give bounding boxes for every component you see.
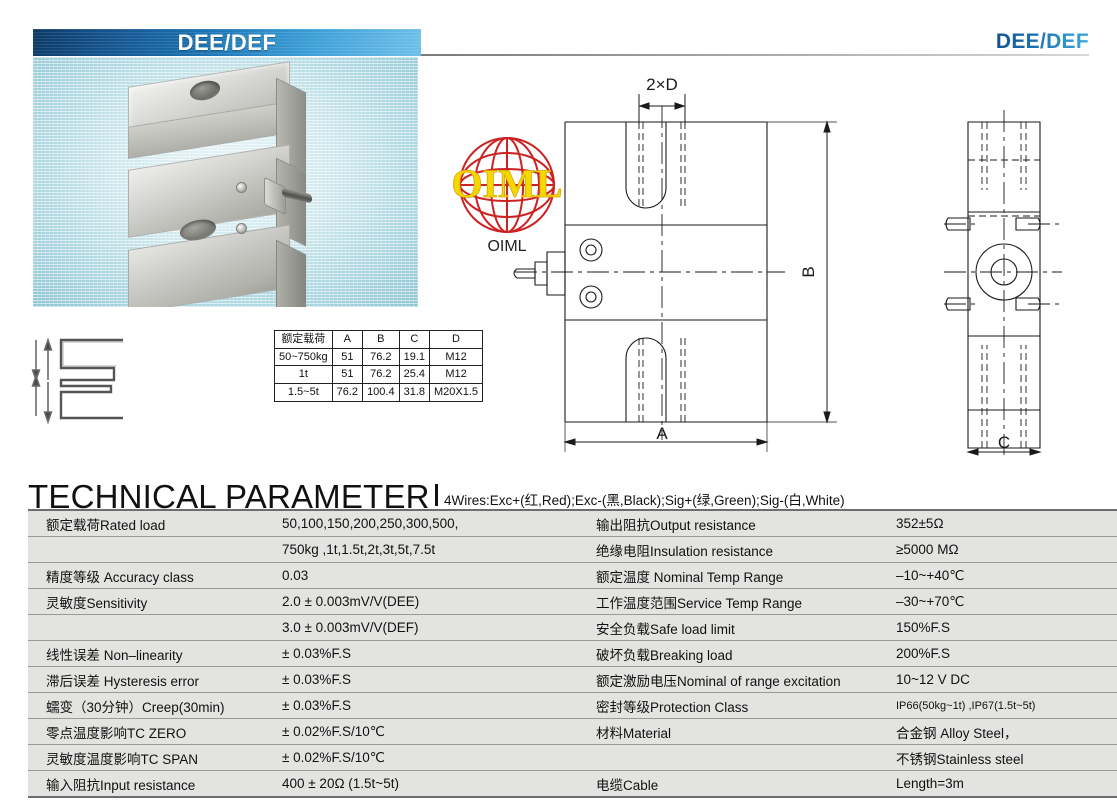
dim-header-c: C [399,331,429,349]
dim-cell: 51 [332,348,362,366]
dim-cell: 19.1 [399,348,429,366]
dimension-table-row: 50~750kg 51 76.2 19.1 M12 [275,348,483,366]
spec-left-value: ± 0.03%F.S [276,693,582,719]
s-shape-icon [28,330,133,425]
spec-right-value: 10~12 V DC [886,667,1117,693]
spec-right-label: 额定温度 Nominal Temp Range [582,563,886,589]
dim-header-rated-load: 额定载荷 [275,331,333,349]
loadcell-bottom-side-face [276,240,306,307]
spec-table-row: 额定载荷Rated load50,100,150,200,250,300,500… [28,510,1117,537]
dim-header-a: A [332,331,362,349]
spec-right-label: 工作温度范围Service Temp Range [582,589,886,615]
spec-right-label: 破坏负载Breaking load [582,641,886,667]
dim-cell: 31.8 [399,383,429,401]
spec-left-value: 400 ± 20Ω (1.5t~5t) [276,771,582,798]
spec-left-label: 精度等级 Accuracy class [28,563,276,589]
front-view-svg: 2×D B A [495,70,885,470]
spec-table-row: 蠕变（30分钟）Creep(30min)± 0.03%F.S密封等级Protec… [28,693,1117,719]
spec-left-label: 输入阻抗Input resistance [28,771,276,798]
dim-cell: 76.2 [332,383,362,401]
spec-left-label: 蠕变（30分钟）Creep(30min) [28,693,276,719]
spec-left-label: 额定载荷Rated load [28,510,276,537]
spec-left-label: 线性误差 Non–linearity [28,641,276,667]
spec-table-row: 3.0 ± 0.003mV/V(DEF)安全负载Safe load limit1… [28,615,1117,641]
header-model-title: DEE/DEF [178,30,277,56]
dim-label-A: A [656,424,668,443]
specification-table: 额定载荷Rated load50,100,150,200,250,300,500… [28,509,1117,798]
spec-right-value: 352±5Ω [886,510,1117,537]
spec-right-label: 电缆Cable [582,771,886,798]
header-banner: DEE/DEF [33,29,421,56]
dim-label-B: B [799,266,818,277]
dim-cell: M12 [430,348,483,366]
spec-right-label: 密封等级Protection Class [582,693,886,719]
spec-left-label: 灵敏度温度影响TC SPAN [28,745,276,771]
dim-cell: 100.4 [363,383,400,401]
front-view-drawing: 2×D B A [495,70,885,475]
dim-header-b: B [363,331,400,349]
dimension-table: 额定载荷 A B C D 50~750kg 51 76.2 19.1 M12 1… [274,330,483,402]
dimension-table-row: 1.5~5t 76.2 100.4 31.8 M20X1.5 [275,383,483,401]
heading-divider [435,484,438,506]
loading-direction-diagram [28,330,133,425]
spec-right-value: 150%F.S [886,615,1117,641]
wiring-note: 4Wires:Exc+(红,Red);Exc-(黑,Black);Sig+(绿,… [444,489,845,509]
side-view-svg: C [940,100,1105,470]
loadcell-bottom-block [128,224,290,307]
dim-label-C: C [998,433,1010,452]
spec-left-value: ± 0.02%F.S/10℃ [276,719,582,745]
spec-right-value: Length=3m [886,771,1117,798]
dim-cell: M20X1.5 [430,383,483,401]
product-photo [33,57,418,307]
loadcell-screw-lower [236,223,247,234]
dim-cell: 76.2 [363,366,400,384]
spec-table-row: 线性误差 Non–linearity± 0.03%F.S破坏负载Breaking… [28,641,1117,667]
header-model-right: DEE/DEF [996,30,1089,54]
spec-right-label: 材料Material [582,719,886,745]
loadcell-screw-upper [236,182,247,193]
datasheet-page: DEE/DEF DEE/DEF [0,0,1117,804]
dimension-table-header-row: 额定载荷 A B C D [275,331,483,349]
spec-table-row: 灵敏度温度影响TC SPAN± 0.02%F.S/10℃不锈钢Stainless… [28,745,1117,771]
spec-left-value: ± 0.02%F.S/10℃ [276,745,582,771]
spec-table-row: 零点温度影响TC ZERO± 0.02%F.S/10℃材料Material合金钢… [28,719,1117,745]
spec-left-value: 2.0 ± 0.003mV/V(DEE) [276,589,582,615]
spec-left-value: 50,100,150,200,250,300,500, [276,510,582,537]
spec-left-value: 0.03 [276,563,582,589]
spec-table-row: 滞后误差 Hysteresis error± 0.03%F.S额定激励电压Nom… [28,667,1117,693]
dim-header-d: D [430,331,483,349]
spec-right-label [582,745,886,771]
spec-table-row: 精度等级 Accuracy class0.03额定温度 Nominal Temp… [28,563,1117,589]
spec-left-value: 3.0 ± 0.003mV/V(DEF) [276,615,582,641]
spec-right-value: –10~+40℃ [886,563,1117,589]
dim-cell: 51 [332,366,362,384]
spec-right-label: 额定激励电压Nominal of range excitation [582,667,886,693]
spec-right-value: –30~+70℃ [886,589,1117,615]
spec-left-value: 750kg ,1t,1.5t,2t,3t,5t,7.5t [276,537,582,563]
spec-right-value: 200%F.S [886,641,1117,667]
side-view-drawing: C [940,100,1105,475]
spec-left-label: 滞后误差 Hysteresis error [28,667,276,693]
dim-label-2xD: 2×D [646,75,678,94]
spec-left-label: 灵敏度Sensitivity [28,589,276,615]
spec-right-label: 输出阻抗Output resistance [582,510,886,537]
dim-cell: 76.2 [363,348,400,366]
spec-right-value: 不锈钢Stainless steel [886,745,1117,771]
spec-table-row: 输入阻抗Input resistance400 ± 20Ω (1.5t~5t)电… [28,771,1117,798]
dimension-table-row: 1t 51 76.2 25.4 M12 [275,366,483,384]
spec-left-value: ± 0.03%F.S [276,641,582,667]
spec-table-row: 750kg ,1t,1.5t,2t,3t,5t,7.5t绝缘电阻Insulati… [28,537,1117,563]
dim-cell: 25.4 [399,366,429,384]
spec-right-value: ≥5000 MΩ [886,537,1117,563]
spec-right-value: 合金钢 Alloy Steel， [886,719,1117,745]
spec-left-label [28,537,276,563]
header-divider-rule [421,54,1089,56]
spec-left-label [28,615,276,641]
dim-cell: 1t [275,366,333,384]
spec-right-label: 安全负载Safe load limit [582,615,886,641]
dim-cell: 1.5~5t [275,383,333,401]
spec-left-value: ± 0.03%F.S [276,667,582,693]
spec-table-row: 灵敏度Sensitivity2.0 ± 0.003mV/V(DEE)工作温度范围… [28,589,1117,615]
dim-cell: 50~750kg [275,348,333,366]
spec-right-label: 绝缘电阻Insulation resistance [582,537,886,563]
spec-left-label: 零点温度影响TC ZERO [28,719,276,745]
dim-cell: M12 [430,366,483,384]
spec-right-value: IP66(50kg~1t) ,IP67(1.5t~5t) [886,693,1117,719]
